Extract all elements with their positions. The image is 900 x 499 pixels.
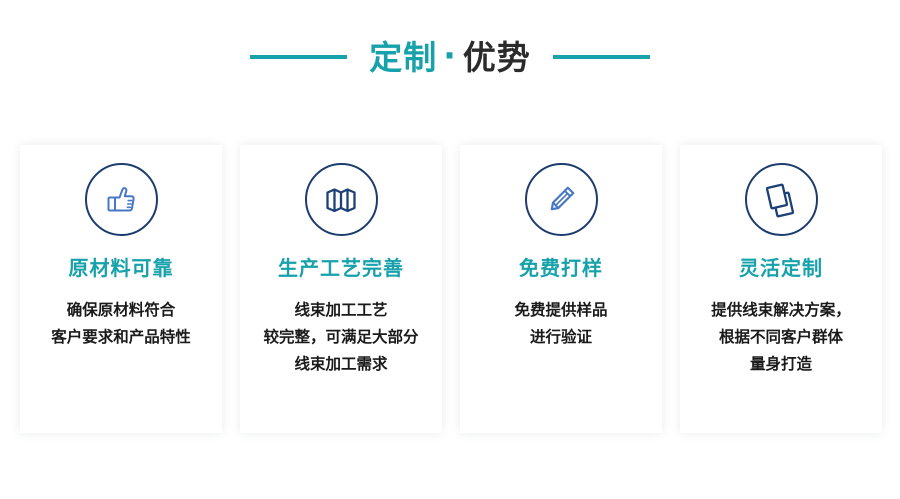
advantage-card-title: 灵活定制 bbox=[739, 258, 823, 278]
thumbs-up-icon bbox=[85, 163, 158, 236]
section-heading: 定制 · 优势 bbox=[0, 28, 900, 86]
advantage-card[interactable]: 免费打样 免费提供样品 进行验证 bbox=[460, 145, 662, 433]
description-line: 进行验证 bbox=[468, 324, 654, 351]
page-title: 定制 · 优势 bbox=[369, 41, 531, 74]
advantage-card-description: 免费提供样品 进行验证 bbox=[468, 297, 654, 351]
advantage-card-description: 确保原材料符合 客户要求和产品特性 bbox=[28, 297, 214, 351]
pencil-icon bbox=[525, 163, 598, 236]
folded-map-icon bbox=[305, 163, 378, 236]
heading-rule-right bbox=[553, 55, 650, 59]
description-line: 量身打造 bbox=[688, 351, 874, 378]
advantage-card-description: 线束加工工艺 较完整，可满足大部分 线束加工需求 bbox=[248, 297, 434, 378]
advantage-card-list: 原材料可靠 确保原材料符合 客户要求和产品特性 生产工艺完善 线束加工工艺 较完… bbox=[20, 145, 882, 433]
advantage-card[interactable]: 生产工艺完善 线束加工工艺 较完整，可满足大部分 线束加工需求 bbox=[240, 145, 442, 433]
advantage-card-title: 生产工艺完善 bbox=[278, 258, 404, 278]
heading-separator-dot: · bbox=[437, 39, 463, 72]
advantage-card[interactable]: 原材料可靠 确保原材料符合 客户要求和产品特性 bbox=[20, 145, 222, 433]
description-line: 线束加工工艺 bbox=[248, 297, 434, 324]
description-line: 客户要求和产品特性 bbox=[28, 324, 214, 351]
description-line: 较完整，可满足大部分 bbox=[248, 324, 434, 351]
heading-accent-text: 定制 bbox=[369, 41, 437, 74]
description-line: 根据不同客户群体 bbox=[688, 324, 874, 351]
advantage-card-description: 提供线束解决方案， 根据不同客户群体 量身打造 bbox=[688, 297, 874, 378]
advantage-card-title: 免费打样 bbox=[519, 258, 603, 278]
description-line: 提供线束解决方案， bbox=[688, 297, 874, 324]
stacked-cards-icon bbox=[745, 163, 818, 236]
description-line: 确保原材料符合 bbox=[28, 297, 214, 324]
heading-main-text: 优势 bbox=[463, 41, 531, 74]
customization-advantages-section: 定制 · 优势 原材料可靠 确保原材料符合 客户要求和产品特性 bbox=[0, 0, 900, 499]
description-line: 免费提供样品 bbox=[468, 297, 654, 324]
heading-rule-left bbox=[250, 55, 347, 59]
advantage-card[interactable]: 灵活定制 提供线束解决方案， 根据不同客户群体 量身打造 bbox=[680, 145, 882, 433]
description-line: 线束加工需求 bbox=[248, 351, 434, 378]
advantage-card-title: 原材料可靠 bbox=[69, 258, 174, 278]
